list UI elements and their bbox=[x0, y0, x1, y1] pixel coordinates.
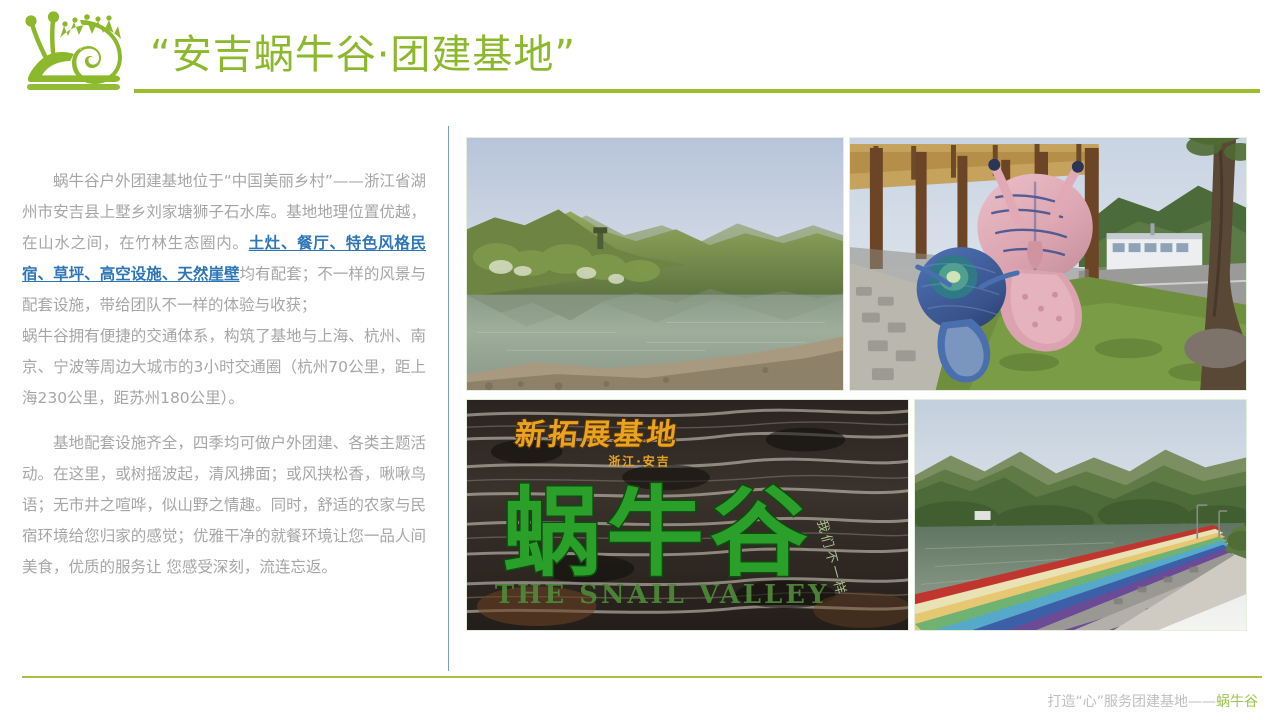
photo-lake bbox=[466, 137, 844, 391]
column-divider bbox=[448, 126, 449, 671]
feature-highlight-stove: 土灶、 bbox=[249, 234, 298, 252]
snail-logo: ZHE JIANG ANJI SNAIL bbox=[8, 6, 140, 94]
paragraph-intro: 蜗牛谷户外团建基地位于“中国美丽乡村”——浙江省湖州市安吉县上墅乡刘家塘狮子石水… bbox=[22, 166, 426, 321]
footer-divider bbox=[22, 676, 1262, 678]
paragraph-spacer bbox=[22, 414, 426, 428]
page-header: ZHE JIANG ANJI SNAIL “安吉蜗牛谷·团建基地” bbox=[0, 0, 1280, 108]
photo-snail-sculptures bbox=[849, 137, 1247, 391]
sign-top-text: 新拓展基地 bbox=[513, 418, 681, 453]
header-divider bbox=[134, 89, 1260, 93]
page-title: “安吉蜗牛谷·团建基地” bbox=[150, 22, 576, 80]
sign-sub-text: 浙江·安吉 bbox=[608, 454, 670, 468]
sign-main-text: 蜗牛谷 bbox=[503, 477, 814, 590]
paragraph-facilities: 基地配套设施齐全，四季均可做户外团建、各类主题活动。在这里，或树摇波起，清风拂面… bbox=[22, 428, 426, 583]
photo-rainbow-dam bbox=[914, 399, 1247, 631]
description-text-block: 蜗牛谷户外团建基地位于“中国美丽乡村”——浙江省湖州市安吉县上墅乡刘家塘狮子石水… bbox=[22, 166, 426, 583]
sign-english-text: THE SNAIL VALLEY bbox=[495, 580, 830, 610]
svg-text:SNAIL: SNAIL bbox=[99, 40, 114, 50]
footer-slogan: 打造“心”服务团建基地——蜗牛谷 bbox=[1047, 691, 1258, 711]
photo-valley-sign: 新拓展基地 浙江·安吉 蜗牛谷 我们不一样 THE SNAIL VALLEY bbox=[466, 399, 909, 631]
footer-brand-name: 蜗牛谷 bbox=[1216, 694, 1258, 710]
footer-slogan-prefix: 打造“心”服务团建基地—— bbox=[1047, 694, 1216, 710]
paragraph-transport: 蜗牛谷拥有便捷的交通体系，构筑了基地与上海、杭州、南京、宁波等周边大城市的3小时… bbox=[22, 321, 426, 414]
